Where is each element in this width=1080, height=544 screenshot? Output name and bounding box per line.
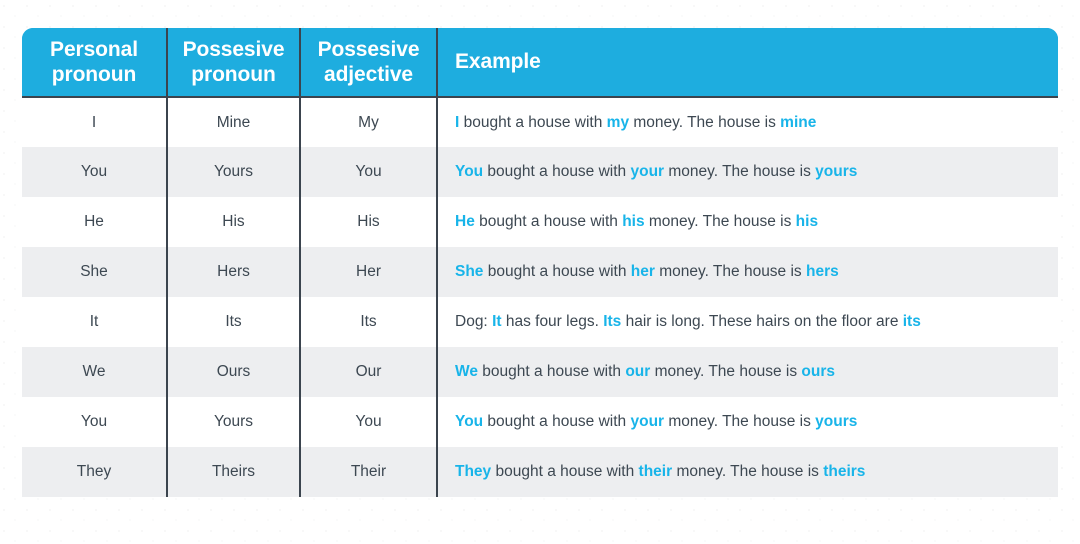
example-text: money. The house is <box>664 163 815 180</box>
column-header-line2: pronoun <box>191 63 275 86</box>
example-highlight: its <box>903 313 921 330</box>
cell-example-sentence: Dog: It has four legs. Its hair is long.… <box>437 297 1058 347</box>
example-text: money. The house is <box>629 114 780 131</box>
cell-possessive-adjective: Its <box>300 297 437 347</box>
example-highlight: hers <box>806 263 839 280</box>
example-highlight: yours <box>815 413 857 430</box>
cell-example-sentence: She bought a house with her money. The h… <box>437 247 1058 297</box>
table-row: TheyTheirsTheirThey bought a house with … <box>22 447 1058 497</box>
example-text: money. The house is <box>655 263 806 280</box>
example-text: hair is long. These hairs on the floor a… <box>621 313 902 330</box>
cell-example-sentence: You bought a house with your money. The … <box>437 397 1058 447</box>
example-text: bought a house with <box>483 263 630 280</box>
table-header: PersonalpronounPossesivepronounPossesive… <box>22 28 1058 97</box>
example-highlight: theirs <box>823 463 865 480</box>
cell-example-sentence: They bought a house with their money. Th… <box>437 447 1058 497</box>
pronoun-table-container: PersonalpronounPossesivepronounPossesive… <box>22 28 1058 497</box>
column-header-line1: Personal <box>50 38 138 61</box>
table-header-row: PersonalpronounPossesivepronounPossesive… <box>22 28 1058 97</box>
cell-possessive-pronoun: Its <box>167 297 300 347</box>
column-header-possesive-pronoun: Possesivepronoun <box>167 28 300 97</box>
example-highlight: his <box>622 213 644 230</box>
example-highlight: your <box>630 413 664 430</box>
column-header-personal-pronoun: Personalpronoun <box>22 28 167 97</box>
example-text: money. The house is <box>672 463 823 480</box>
column-header-example: Example <box>437 28 1058 97</box>
example-text: bought a house with <box>483 163 630 180</box>
example-highlight: her <box>631 263 655 280</box>
example-highlight: You <box>455 163 483 180</box>
table-row: WeOursOurWe bought a house with our mone… <box>22 347 1058 397</box>
cell-possessive-adjective: You <box>300 397 437 447</box>
example-highlight: Its <box>603 313 621 330</box>
cell-possessive-adjective: His <box>300 197 437 247</box>
cell-personal-pronoun: You <box>22 147 167 197</box>
cell-personal-pronoun: They <box>22 447 167 497</box>
example-text: bought a house with <box>483 413 630 430</box>
example-highlight: He <box>455 213 475 230</box>
cell-personal-pronoun: I <box>22 97 167 147</box>
example-highlight: They <box>455 463 491 480</box>
cell-possessive-pronoun: Ours <box>167 347 300 397</box>
example-text: Dog: <box>455 313 492 330</box>
example-highlight: We <box>455 363 478 380</box>
example-highlight: our <box>625 363 650 380</box>
cell-personal-pronoun: You <box>22 397 167 447</box>
example-text: bought a house with <box>459 114 606 131</box>
table-row: HeHisHisHe bought a house with his money… <box>22 197 1058 247</box>
table-row: IMineMyI bought a house with my money. T… <box>22 97 1058 147</box>
example-highlight: ours <box>801 363 835 380</box>
table-row: YouYoursYouYou bought a house with your … <box>22 397 1058 447</box>
example-highlight: She <box>455 263 483 280</box>
cell-personal-pronoun: We <box>22 347 167 397</box>
cell-possessive-pronoun: Yours <box>167 397 300 447</box>
table-body: IMineMyI bought a house with my money. T… <box>22 97 1058 497</box>
cell-example-sentence: You bought a house with your money. The … <box>437 147 1058 197</box>
cell-possessive-pronoun: Yours <box>167 147 300 197</box>
example-highlight: mine <box>780 114 816 131</box>
example-highlight: your <box>630 163 664 180</box>
column-header-line2: adjective <box>324 63 413 86</box>
cell-example-sentence: We bought a house with our money. The ho… <box>437 347 1058 397</box>
cell-possessive-adjective: You <box>300 147 437 197</box>
example-highlight: yours <box>815 163 857 180</box>
table-row: SheHersHerShe bought a house with her mo… <box>22 247 1058 297</box>
table-row: ItItsItsDog: It has four legs. Its hair … <box>22 297 1058 347</box>
cell-possessive-adjective: Her <box>300 247 437 297</box>
example-highlight: my <box>607 114 629 131</box>
example-highlight: You <box>455 413 483 430</box>
example-text: money. The house is <box>664 413 815 430</box>
cell-possessive-adjective: Our <box>300 347 437 397</box>
cell-possessive-adjective: Their <box>300 447 437 497</box>
cell-possessive-pronoun: Mine <box>167 97 300 147</box>
example-text: has four legs. <box>502 313 604 330</box>
column-header-line2: pronoun <box>52 63 136 86</box>
example-highlight: their <box>639 463 673 480</box>
column-header-line1: Example <box>455 50 541 73</box>
cell-personal-pronoun: It <box>22 297 167 347</box>
table-row: YouYoursYouYou bought a house with your … <box>22 147 1058 197</box>
cell-possessive-adjective: My <box>300 97 437 147</box>
example-text: money. The house is <box>645 213 796 230</box>
cell-possessive-pronoun: Theirs <box>167 447 300 497</box>
cell-personal-pronoun: She <box>22 247 167 297</box>
example-text: bought a house with <box>475 213 622 230</box>
column-header-line1: Possesive <box>183 38 285 61</box>
column-header-line1: Possesive <box>318 38 420 61</box>
cell-possessive-pronoun: His <box>167 197 300 247</box>
column-header-possesive-adjective: Possesiveadjective <box>300 28 437 97</box>
cell-example-sentence: I bought a house with my money. The hous… <box>437 97 1058 147</box>
pronoun-reference-table: PersonalpronounPossesivepronounPossesive… <box>22 28 1058 497</box>
cell-possessive-pronoun: Hers <box>167 247 300 297</box>
example-text: bought a house with <box>478 363 625 380</box>
cell-example-sentence: He bought a house with his money. The ho… <box>437 197 1058 247</box>
example-text: bought a house with <box>491 463 638 480</box>
example-highlight: his <box>796 213 818 230</box>
example-highlight: It <box>492 313 501 330</box>
cell-personal-pronoun: He <box>22 197 167 247</box>
example-text: money. The house is <box>650 363 801 380</box>
